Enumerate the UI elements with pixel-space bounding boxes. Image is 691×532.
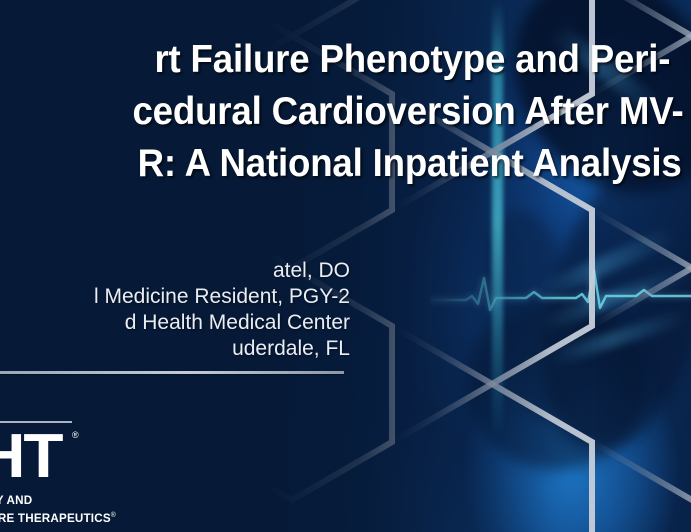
logo-subtitle-line-2: AILURE THERAPEUTICS® [0, 508, 154, 526]
logo-subtitle-registered-icon: ® [111, 512, 116, 519]
slide-content: rt Failure Phenotype and Peri- cedural C… [0, 0, 691, 532]
page-title: rt Failure Phenotype and Peri- cedural C… [0, 34, 691, 190]
logo-subtitle: LOGY AND AILURE THERAPEUTICS® [0, 492, 160, 526]
logo-registered-icon: ® [72, 430, 79, 440]
logo-subtitle-line-2-text: AILURE THERAPEUTICS [0, 511, 111, 525]
author-location: uderdale, FL [0, 336, 350, 362]
title-line-3: R: A National Inpatient Analysis [41, 138, 691, 190]
title-line-1: rt Failure Phenotype and Peri- [41, 34, 691, 86]
conference-logo: HT ® LOGY AND AILURE THERAPEUTICS® [0, 418, 150, 528]
author-block: atel, DO l Medicine Resident, PGY-2 d He… [0, 258, 350, 362]
logo-subtitle-line-1: LOGY AND [0, 492, 154, 508]
logo-wordmark: HT [0, 426, 61, 488]
author-divider [0, 371, 344, 374]
title-line-2: cedural Cardioversion After MV- [41, 86, 691, 138]
title-slide: rt Failure Phenotype and Peri- cedural C… [0, 0, 691, 532]
author-role: l Medicine Resident, PGY-2 [0, 284, 350, 310]
author-name: atel, DO [0, 258, 350, 284]
author-institution: d Health Medical Center [0, 310, 350, 336]
